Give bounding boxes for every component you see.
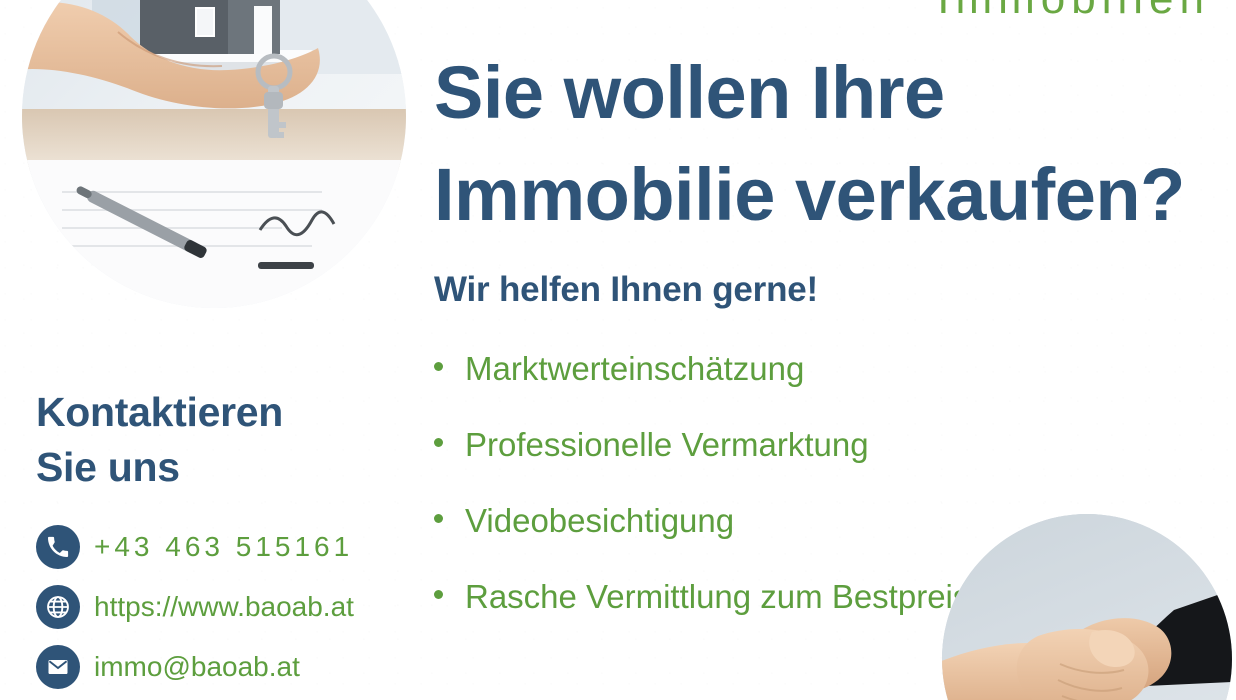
service-label: Videobesichtigung	[465, 502, 734, 540]
house-photo-illustration	[22, 0, 406, 308]
bullet-dot-icon	[434, 362, 443, 371]
service-label: Rasche Vermittlung zum Bestpreis	[465, 578, 969, 616]
bullet-dot-icon	[434, 590, 443, 599]
service-label: Marktwerteinschätzung	[465, 350, 804, 388]
website-url: https://www.baoab.at	[94, 591, 354, 623]
subheadline: Wir helfen Ihnen gerne!	[434, 270, 1214, 310]
brand-wordmark: Immobilien	[937, 0, 1210, 24]
contact-title-line-2: Sie uns	[36, 440, 416, 495]
contact-item-phone[interactable]: +43 463 515161	[36, 517, 416, 577]
headline-line-2: Immobilie verkaufen?	[434, 144, 1214, 246]
poster-canvas: Immobilien	[0, 0, 1236, 700]
contact-item-website[interactable]: https://www.baoab.at	[36, 577, 416, 637]
phone-icon	[36, 525, 80, 569]
contact-list: +43 463 515161 https://www.baoab.at	[36, 517, 416, 700]
bullet-dot-icon	[434, 438, 443, 447]
service-label: Professionelle Vermarktung	[465, 426, 869, 464]
headline-line-1: Sie wollen Ihre	[434, 42, 1214, 144]
house-photo-circle	[22, 0, 406, 308]
contact-block: Kontaktieren Sie uns +43 463 515161	[36, 385, 416, 700]
list-item: Professionelle Vermarktung	[434, 426, 1214, 502]
bullet-dot-icon	[434, 514, 443, 523]
globe-icon	[36, 585, 80, 629]
list-item: Marktwerteinschätzung	[434, 350, 1214, 426]
contact-title-line-1: Kontaktieren	[36, 385, 416, 440]
email-address: immo@baoab.at	[94, 651, 300, 683]
envelope-icon	[36, 645, 80, 689]
contact-item-email[interactable]: immo@baoab.at	[36, 637, 416, 697]
phone-number: +43 463 515161	[94, 531, 353, 563]
